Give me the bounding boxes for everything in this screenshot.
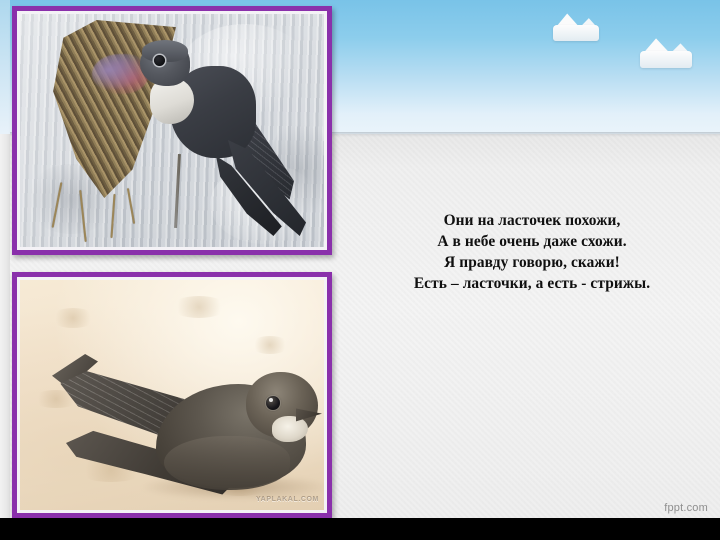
photo-mat: YAPLAKAL.COM bbox=[17, 277, 327, 513]
swift-at-nest-frame bbox=[12, 6, 332, 255]
slide-stage: YAPLAKAL.COM Они на ласточек похожи, А в… bbox=[0, 0, 720, 540]
swift-bird bbox=[38, 348, 324, 508]
presentation-slide: YAPLAKAL.COM Они на ласточек похожи, А в… bbox=[0, 0, 720, 518]
photo-source-watermark: YAPLAKAL.COM bbox=[256, 496, 319, 503]
swift-bird bbox=[132, 36, 304, 232]
bird-eye bbox=[154, 55, 165, 66]
letterbox-bottom-bar bbox=[0, 518, 720, 540]
bird-eye bbox=[266, 396, 280, 410]
bird-eye-glint bbox=[269, 398, 273, 402]
cloud-icon bbox=[553, 15, 599, 41]
sand-texture-speck bbox=[170, 296, 228, 318]
bird-crown bbox=[142, 40, 188, 62]
photo-mat bbox=[17, 11, 327, 250]
poem-line: Они на ласточек похожи, bbox=[356, 210, 708, 231]
cloud-shading bbox=[640, 51, 692, 68]
poem-line: Я правду говорю, скажи! bbox=[356, 252, 708, 273]
bird-leg bbox=[174, 154, 181, 228]
sand-texture-speck bbox=[50, 308, 96, 328]
swift-at-nest-photo bbox=[20, 14, 324, 247]
swift-on-sand-frame: YAPLAKAL.COM bbox=[12, 272, 332, 518]
poem-line: А в небе очень даже схожи. bbox=[356, 231, 708, 252]
swift-on-sand-photo: YAPLAKAL.COM bbox=[20, 280, 324, 510]
bird-belly bbox=[164, 436, 290, 490]
cloud-shading bbox=[553, 25, 599, 41]
left-edge-strip-sky bbox=[0, 0, 10, 134]
poem-text-block: Они на ласточек похожи, А в небе очень д… bbox=[356, 210, 708, 294]
fppt-watermark: fppt.com bbox=[664, 502, 708, 514]
cloud-icon bbox=[640, 40, 692, 68]
poem-line: Есть – ласточки, а есть - стрижы. bbox=[356, 273, 708, 294]
